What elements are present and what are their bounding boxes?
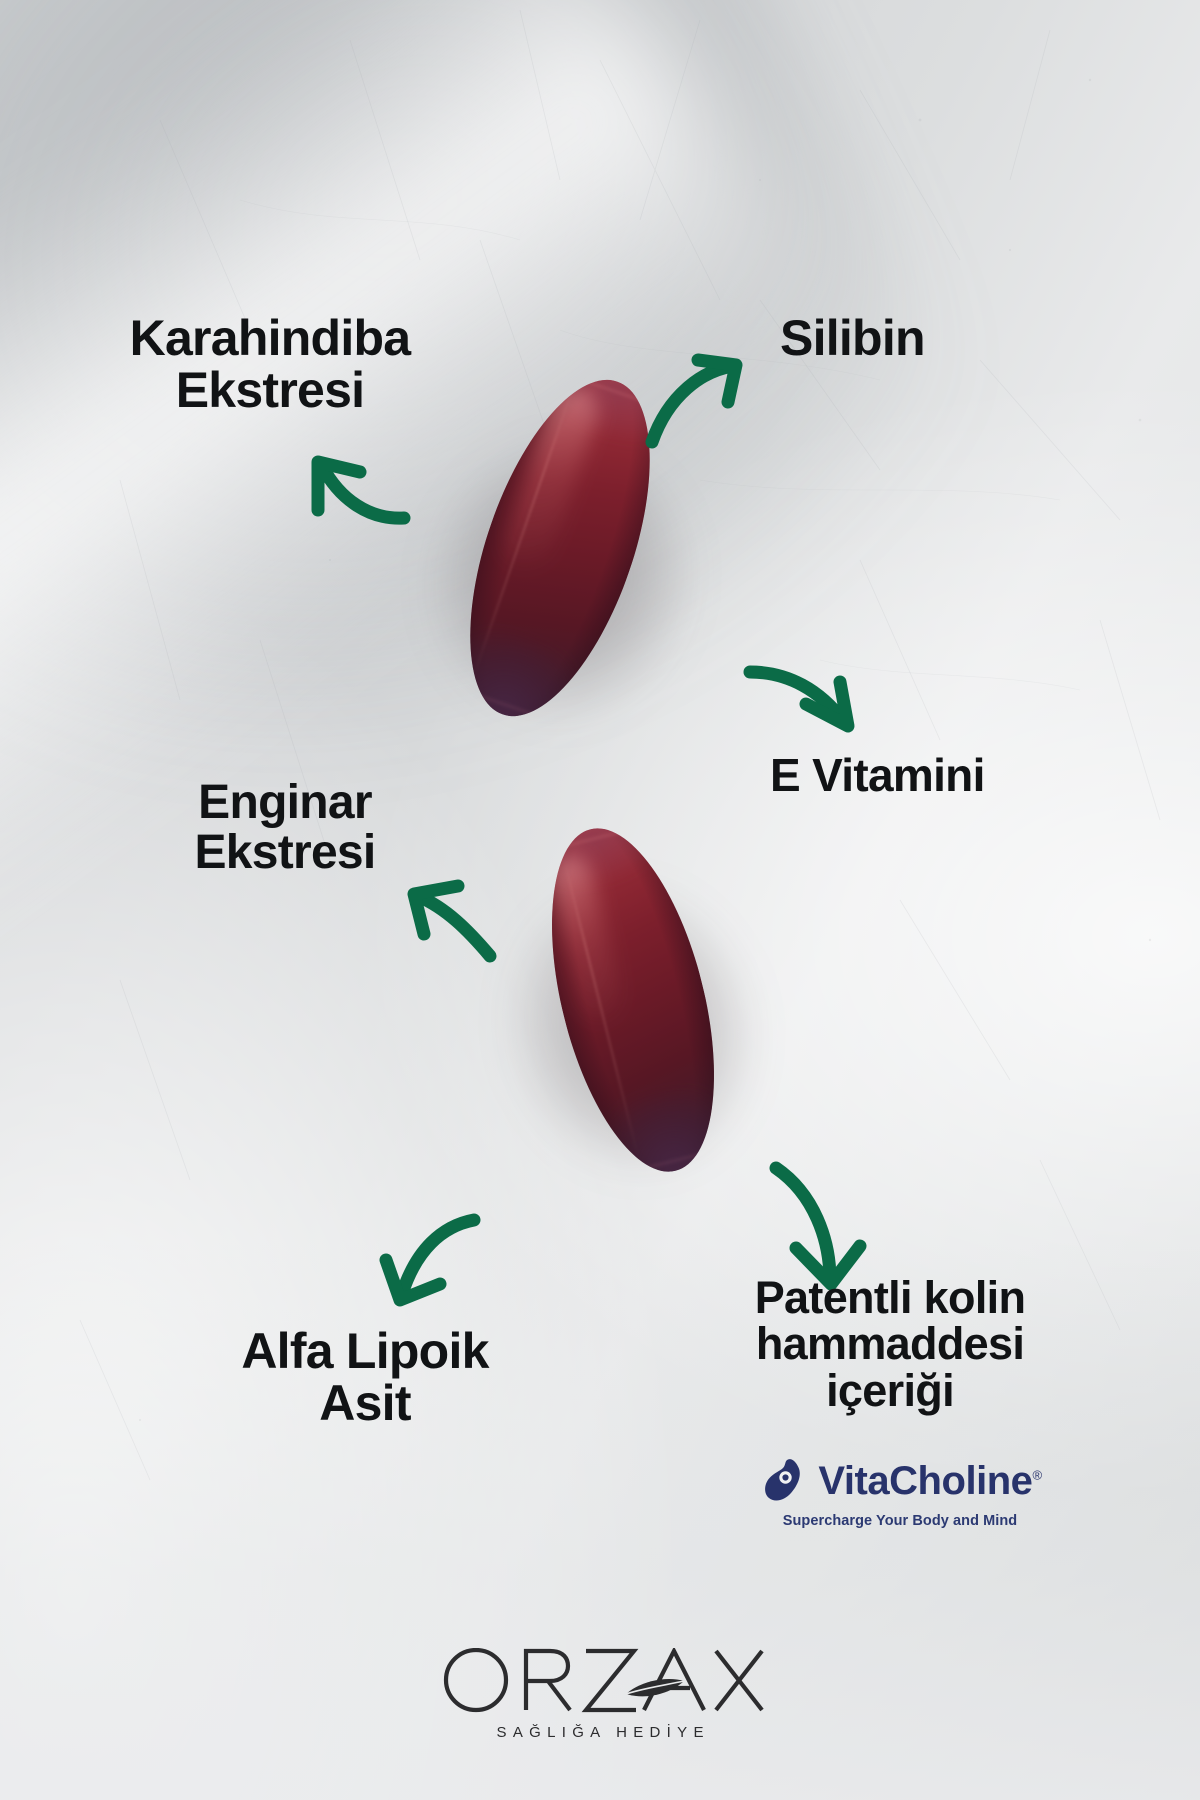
orzax-tagline: SAĞLIĞA HEDİYE: [430, 1724, 770, 1741]
ingredient-label-silibin: Silibin: [780, 312, 1080, 364]
vitacholine-name-part-1: Vita: [818, 1459, 889, 1503]
vitacholine-wordmark: VitaCholine®: [818, 1461, 1041, 1501]
arrow-to-karahindiba: [290, 438, 480, 558]
product-ingredient-infographic: Karahindiba Ekstresi Silibin E Vitamini …: [0, 0, 1200, 1800]
vitacholine-tagline: Supercharge Your Body and Mind: [740, 1513, 1060, 1529]
vitacholine-logo: VitaCholine® Supercharge Your Body and M…: [740, 1455, 1060, 1529]
vitacholine-wordmark-row: VitaCholine®: [740, 1455, 1060, 1507]
orzax-wordmark: [430, 1648, 770, 1714]
orzax-logo: SAĞLIĞA HEDİYE: [430, 1648, 770, 1741]
vitacholine-droplet-icon: [758, 1455, 810, 1507]
arrow-to-e-vitamini: [728, 628, 888, 768]
vitacholine-registered-mark: ®: [1032, 1468, 1041, 1483]
arrow-to-alfa-lipoik: [368, 1198, 538, 1328]
ingredient-label-karahindiba: Karahindiba Ekstresi: [70, 312, 470, 416]
vitacholine-name-part-2: Choline: [889, 1459, 1032, 1503]
ingredient-label-alfa-lipoik: Alfa Lipoik Asit: [185, 1325, 545, 1429]
ingredient-label-patentli-kolin: Patentli kolin hammaddesi içeriği: [680, 1275, 1100, 1414]
ingredient-label-e-vitamini: E Vitamini: [770, 752, 1100, 800]
ingredient-label-enginar: Enginar Ekstresi: [130, 778, 440, 878]
